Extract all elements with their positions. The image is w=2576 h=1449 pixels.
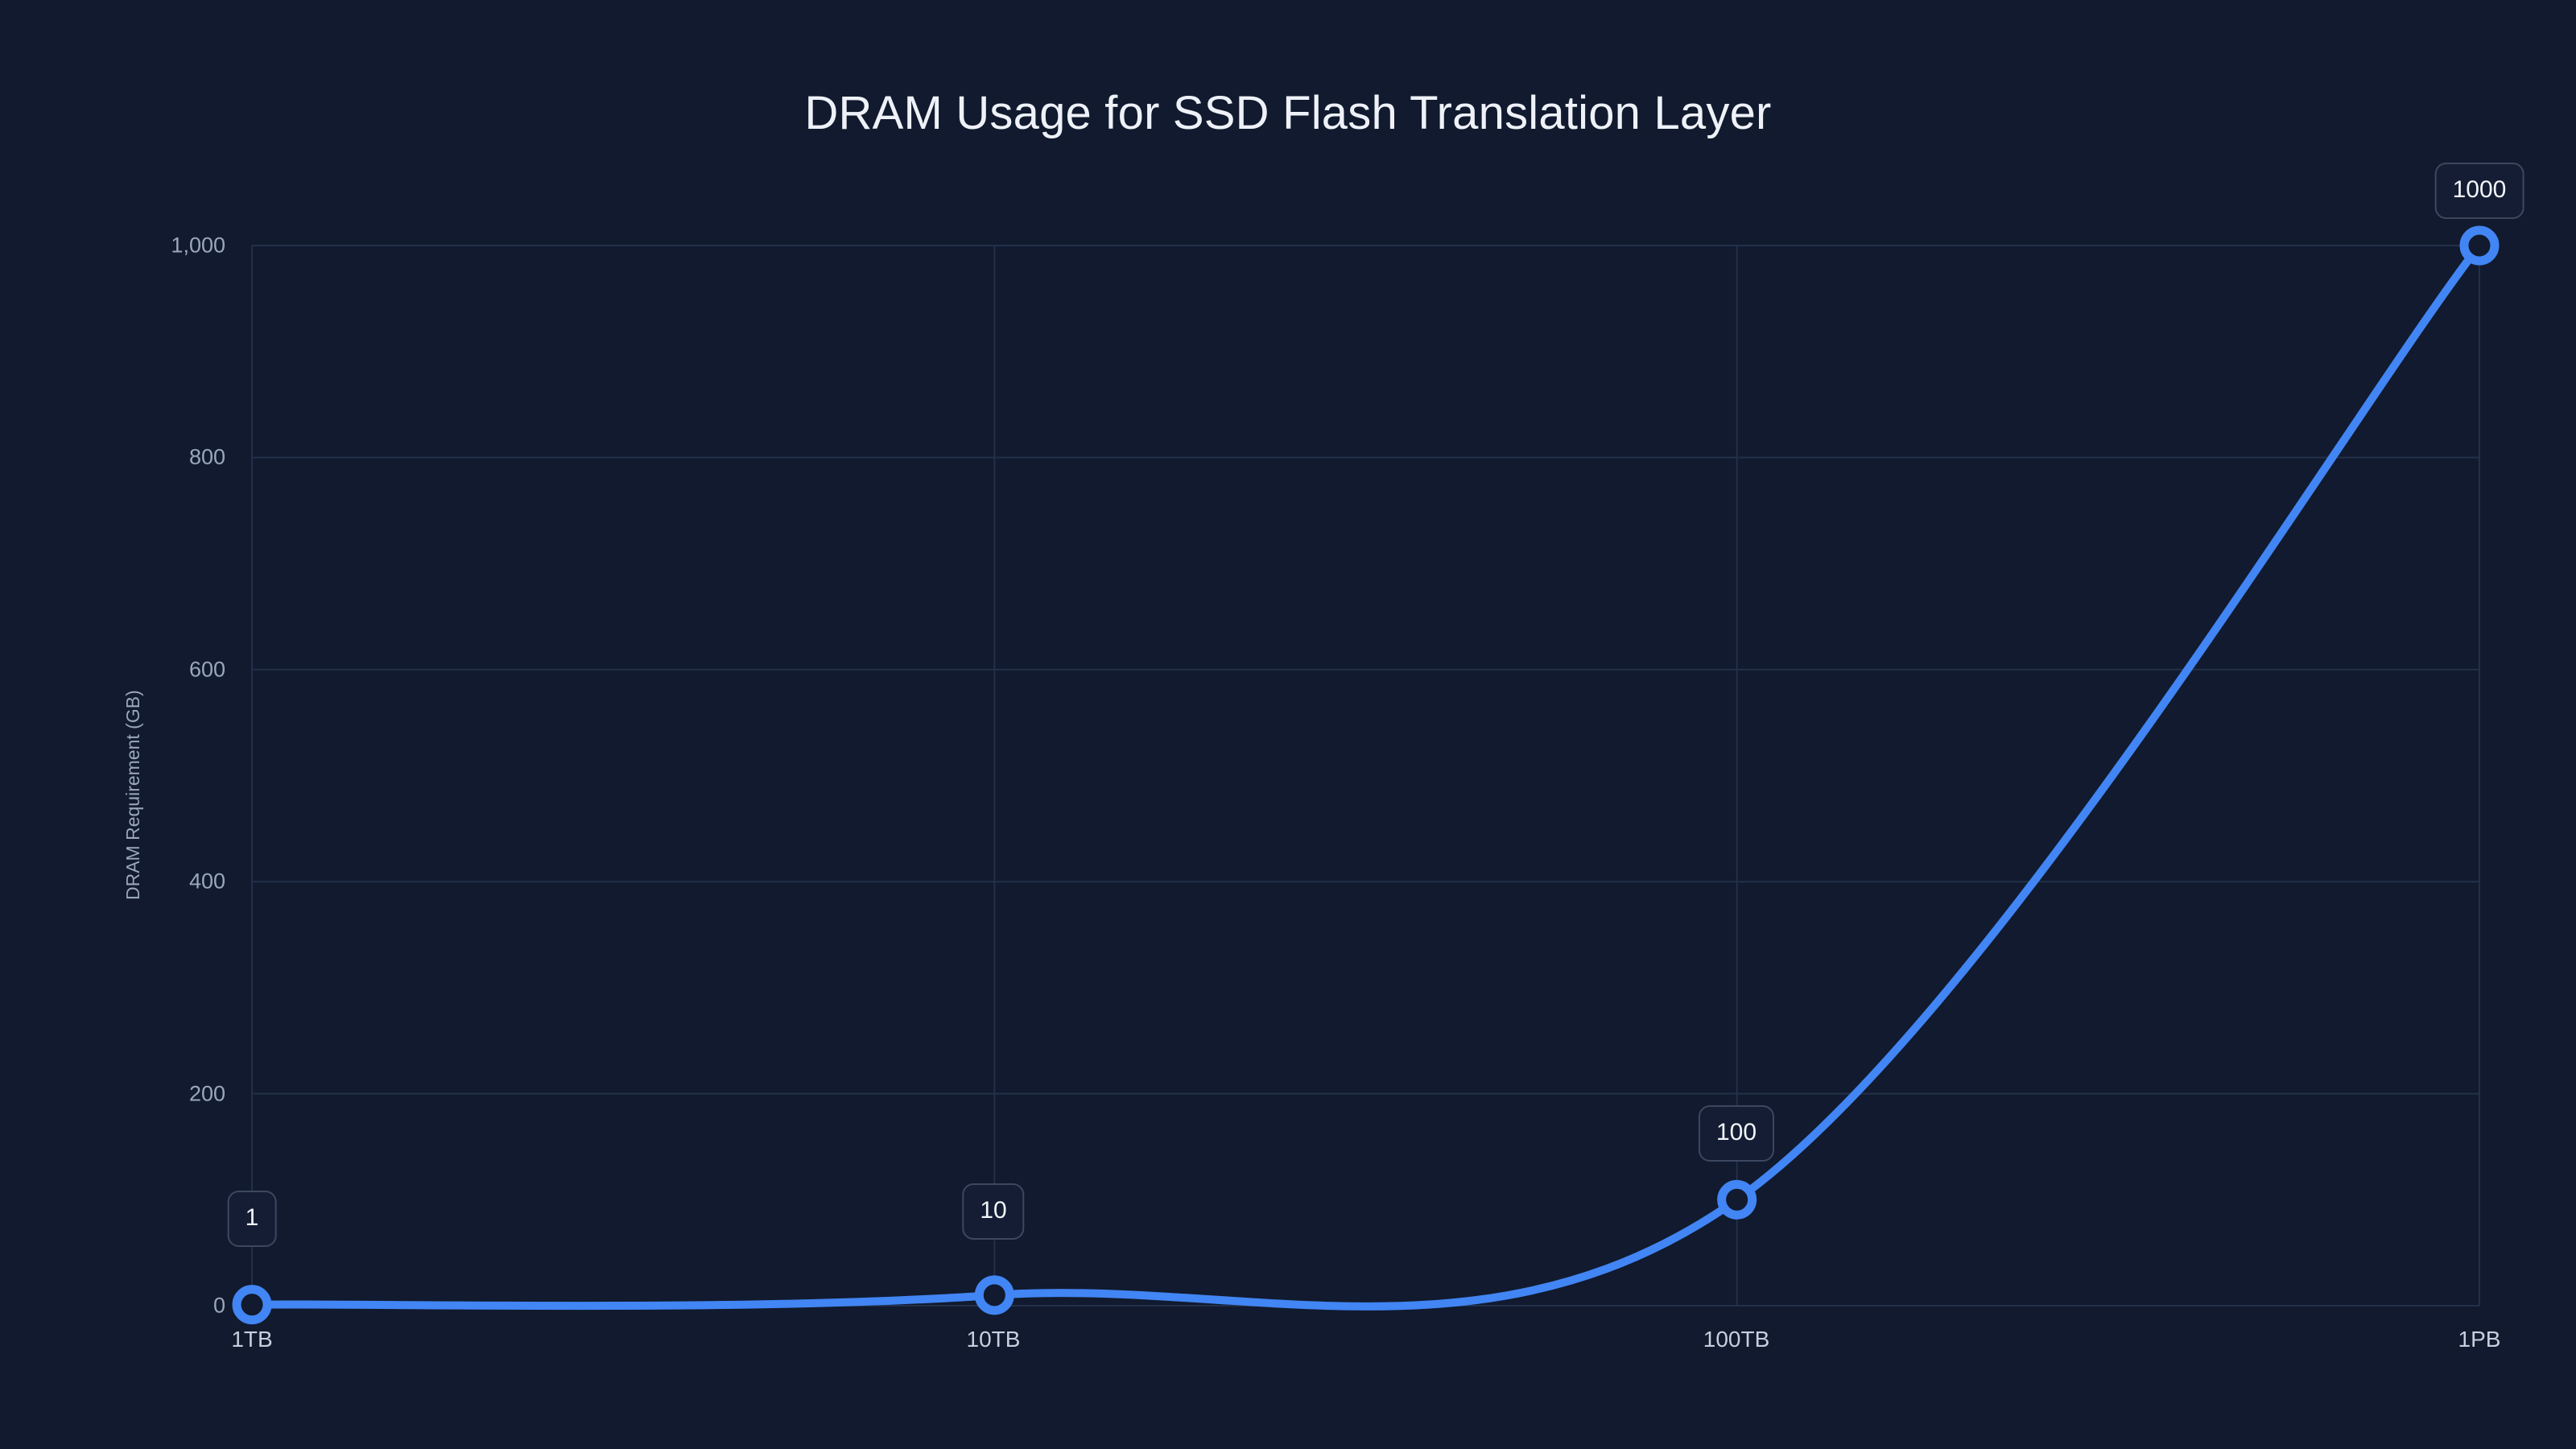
data-point-label: 1000	[2435, 163, 2524, 219]
data-point-marker[interactable]	[237, 1290, 267, 1320]
x-tick-label: 100TB	[1703, 1327, 1770, 1352]
x-tick-label: 1PB	[2458, 1327, 2501, 1352]
data-point-marker[interactable]	[1722, 1184, 1752, 1215]
x-tick-label: 10TB	[967, 1327, 1021, 1352]
data-point-marker[interactable]	[2464, 230, 2495, 261]
data-point-label: 100	[1699, 1105, 1774, 1162]
gridlines	[252, 246, 2479, 1306]
series-line	[252, 246, 2479, 1307]
plot-area	[0, 0, 2576, 1449]
data-point-marker[interactable]	[979, 1280, 1009, 1311]
x-tick-label: 1TB	[231, 1327, 272, 1352]
data-point-markers[interactable]	[237, 230, 2495, 1320]
chart-container: DRAM Usage for SSD Flash Translation Lay…	[0, 0, 2576, 1449]
data-point-label: 1	[228, 1191, 277, 1247]
data-point-label: 10	[962, 1183, 1024, 1240]
